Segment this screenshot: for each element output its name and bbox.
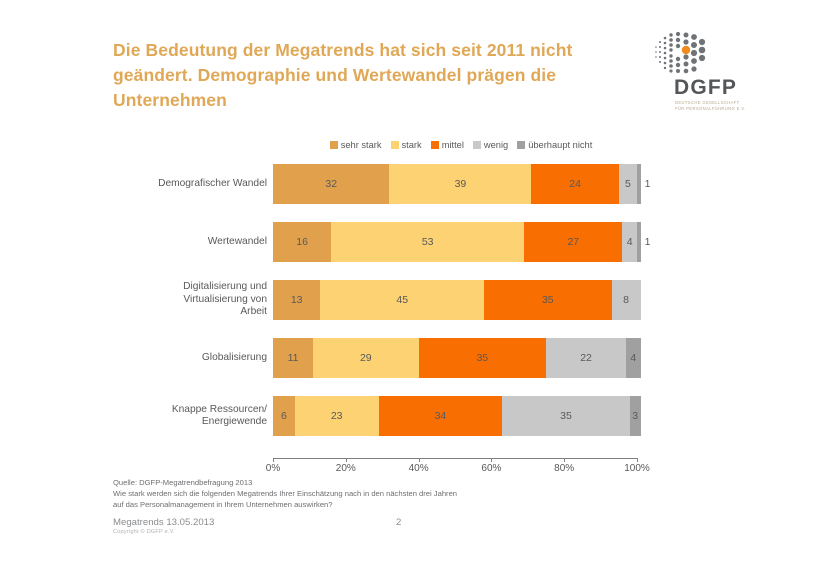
- legend-item-label: sehr stark: [341, 140, 382, 150]
- x-axis-tick-label: 100%: [624, 463, 650, 474]
- bar-segment[interactable]: 4: [626, 338, 641, 378]
- stacked-bar: 1345358: [273, 280, 673, 320]
- chart-category-label-line: Wertewandel: [113, 236, 267, 249]
- bar-segment[interactable]: 35: [484, 280, 611, 320]
- chart-category-label-line: Demografischer Wandel: [113, 178, 267, 191]
- bar-segment-value: 35: [542, 294, 554, 306]
- bar-segment-value-outside: 1: [641, 164, 651, 204]
- legend-swatch-icon: [517, 141, 525, 149]
- dgfp-logo: DGFP DEUTSCHE GESELLSCHAFT FÜR PERSONALF…: [650, 28, 780, 118]
- bar-segment[interactable]: 3: [630, 396, 641, 436]
- chart-category-label: Wertewandel: [113, 236, 273, 249]
- page-title: Die Bedeutung der Megatrends hat sich se…: [113, 38, 633, 113]
- bar-segment[interactable]: 32: [273, 164, 389, 204]
- chart-category-label-line: Energiewende: [113, 416, 267, 429]
- x-axis-tick-label: 40%: [409, 463, 429, 474]
- legend-swatch-icon: [473, 141, 481, 149]
- chart-legend: sehr starkstarkmittelwenigüberhaupt nich…: [279, 136, 643, 154]
- bar-segment[interactable]: 29: [313, 338, 419, 378]
- x-axis-tick: [637, 458, 638, 462]
- x-axis-tick: [564, 458, 565, 462]
- bar-segment[interactable]: 39: [389, 164, 531, 204]
- legend-swatch-icon: [431, 141, 439, 149]
- chart-bar-row: Demografischer Wandel32392451: [113, 164, 673, 204]
- chart-bar-row: Digitalisierung undVirtualisierung vonAr…: [113, 280, 673, 320]
- chart-category-label-line: Knappe Ressourcen/: [113, 404, 267, 417]
- bar-segment[interactable]: 13: [273, 280, 320, 320]
- chart-bar-row: Knappe Ressourcen/Energiewende62334353: [113, 396, 673, 436]
- footer-page-number: 2: [396, 517, 401, 528]
- chart-category-label-line: Digitalisierung und: [113, 281, 267, 294]
- logo-wordmark: DGFP: [674, 76, 737, 100]
- source-line-3: auf das Personalmanagement in Ihrem Unte…: [113, 500, 673, 510]
- chart-category-label: Globalisierung: [113, 352, 273, 365]
- bar-segment-value: 4: [627, 236, 633, 248]
- chart-bar-row: Wertewandel16532741: [113, 222, 673, 262]
- footer-title: Megatrends 13.05.2013: [113, 517, 214, 528]
- bar-segment[interactable]: 35: [502, 396, 629, 436]
- bar-segment-value: 35: [560, 410, 572, 422]
- chart-x-axis: 0%20%40%60%80%100%: [113, 458, 673, 478]
- bar-segment-value: 45: [396, 294, 408, 306]
- bar-segment-value-outside: 1: [641, 222, 651, 262]
- chart-category-label: Demografischer Wandel: [113, 178, 273, 191]
- x-axis-tick: [273, 458, 274, 462]
- bar-segment-value: 11: [288, 352, 299, 364]
- bar-segment-value: 24: [569, 178, 581, 190]
- bar-segment-value: 35: [476, 352, 488, 364]
- bar-segment-value: 22: [580, 352, 592, 364]
- bar-segment-value: 16: [296, 236, 308, 248]
- x-axis-tick-label: 80%: [554, 463, 574, 474]
- bar-segment-value: 29: [360, 352, 372, 364]
- legend-item[interactable]: wenig: [473, 140, 508, 150]
- logo-tagline-line-2: FÜR PERSONALFÜHRUNG E.V.: [675, 106, 785, 112]
- x-axis-line: [273, 458, 637, 459]
- bar-segment[interactable]: 27: [524, 222, 622, 262]
- bar-segment[interactable]: 45: [320, 280, 484, 320]
- bar-segment[interactable]: 23: [295, 396, 379, 436]
- bar-segment[interactable]: 22: [546, 338, 626, 378]
- legend-item-label: mittel: [442, 140, 464, 150]
- bar-segment-value: 53: [422, 236, 434, 248]
- x-axis-tick: [419, 458, 420, 462]
- x-axis-tick: [346, 458, 347, 462]
- x-axis-tick-label: 0%: [266, 463, 280, 474]
- chart-category-label-line: Globalisierung: [113, 352, 267, 365]
- bar-segment-value: 23: [331, 410, 343, 422]
- chart-category-label-line: Arbeit: [113, 306, 267, 319]
- bar-segment[interactable]: 35: [419, 338, 546, 378]
- source-line-1: Quelle: DGFP-Megatrendbefragung 2013: [113, 478, 673, 488]
- bar-segment[interactable]: 4: [622, 222, 637, 262]
- chart-bar-row: Globalisierung112935224: [113, 338, 673, 378]
- stacked-bar: 16532741: [273, 222, 673, 262]
- stacked-bar-chart: Demografischer Wandel32392451Wertewandel…: [113, 160, 673, 460]
- bar-segment-value: 5: [625, 178, 631, 190]
- legend-item-label: stark: [402, 140, 422, 150]
- slide-footer: Megatrends 13.05.2013 Copyright © DGFP e…: [113, 517, 673, 543]
- source-line-2: Wie stark werden sich die folgenden Mega…: [113, 489, 673, 499]
- legend-item[interactable]: sehr stark: [330, 140, 382, 150]
- bar-segment[interactable]: 16: [273, 222, 331, 262]
- bar-segment[interactable]: 53: [331, 222, 524, 262]
- bar-segment-value: 4: [630, 352, 636, 364]
- bar-segment-value: 39: [455, 178, 467, 190]
- bar-segment-value: 34: [435, 410, 447, 422]
- legend-item-label: überhaupt nicht: [528, 140, 592, 150]
- bar-segment[interactable]: 6: [273, 396, 295, 436]
- logo-tagline: DEUTSCHE GESELLSCHAFT FÜR PERSONALFÜHRUN…: [675, 100, 785, 112]
- legend-item[interactable]: stark: [391, 140, 422, 150]
- bar-segment[interactable]: 8: [612, 280, 641, 320]
- legend-item[interactable]: überhaupt nicht: [517, 140, 592, 150]
- bar-segment-value: 13: [291, 294, 303, 306]
- footer-copyright: Copyright © DGFP e.V.: [113, 529, 175, 535]
- chart-category-label: Digitalisierung undVirtualisierung vonAr…: [113, 281, 273, 319]
- bar-segment-value: 8: [623, 294, 629, 306]
- x-axis-tick: [491, 458, 492, 462]
- bar-segment-value: 6: [281, 410, 287, 422]
- bar-segment-value: 32: [325, 178, 337, 190]
- legend-item[interactable]: mittel: [431, 140, 464, 150]
- stacked-bar: 32392451: [273, 164, 673, 204]
- logo-accent-dot: [682, 46, 690, 54]
- bar-segment-value: 3: [632, 410, 638, 422]
- bar-segment[interactable]: 5: [619, 164, 637, 204]
- chart-category-label: Knappe Ressourcen/Energiewende: [113, 404, 273, 429]
- legend-swatch-icon: [330, 141, 338, 149]
- x-axis-tick-label: 20%: [336, 463, 356, 474]
- dgfp-dot-arc-icon: [650, 28, 712, 80]
- stacked-bar: 112935224: [273, 338, 673, 378]
- x-axis-tick-label: 60%: [481, 463, 501, 474]
- source-note: Quelle: DGFP-Megatrendbefragung 2013 Wie…: [113, 478, 673, 510]
- stacked-bar: 62334353: [273, 396, 673, 436]
- bar-segment[interactable]: 24: [531, 164, 618, 204]
- bar-segment-value: 27: [567, 236, 579, 248]
- chart-category-label-line: Virtualisierung von: [113, 294, 267, 307]
- bar-segment[interactable]: 34: [379, 396, 503, 436]
- legend-item-label: wenig: [484, 140, 508, 150]
- bar-segment[interactable]: 11: [273, 338, 313, 378]
- legend-swatch-icon: [391, 141, 399, 149]
